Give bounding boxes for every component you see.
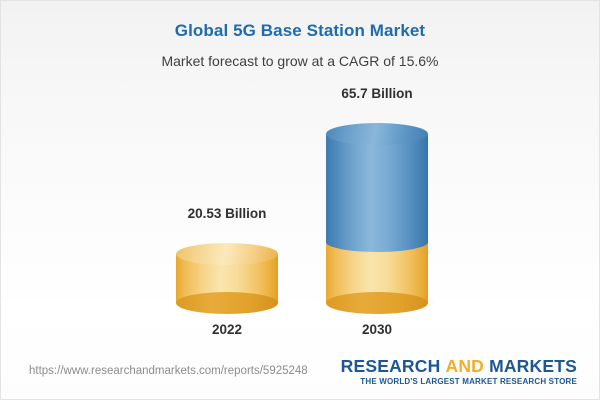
cylinder-base-2022 [176, 292, 278, 314]
chart-footer: https://www.researchandmarkets.com/repor… [1, 349, 599, 399]
brand-wordmark: RESEARCH AND MARKETS [341, 357, 577, 375]
bar-2022[interactable]: 20.53 Billion 2022 [176, 243, 278, 303]
category-label-2022: 2022 [212, 322, 242, 337]
brand-word-and: AND [445, 356, 484, 376]
bar-value-label-2030: 65.7 Billion [341, 86, 412, 101]
brand-word-research: RESEARCH [341, 356, 441, 376]
cylinder-cap-2030 [326, 123, 428, 145]
cylinder-base-2030 [326, 292, 428, 314]
chart-card: Global 5G Base Station Market Market for… [0, 0, 600, 400]
brand-logo[interactable]: RESEARCH AND MARKETS THE WORLD'S LARGEST… [341, 357, 577, 386]
category-label-2030: 2030 [362, 322, 392, 337]
brand-word-markets: MARKETS [489, 356, 577, 376]
source-url[interactable]: https://www.researchandmarkets.com/repor… [29, 365, 308, 377]
brand-tagline: THE WORLD'S LARGEST MARKET RESEARCH STOR… [341, 377, 577, 386]
chart-plot-area: 20.53 Billion 2022 65.7 Billion 2 [1, 1, 600, 351]
cylinder-segment-divider-2030 [326, 232, 428, 252]
bar-value-label-2022: 20.53 Billion [188, 206, 267, 221]
cylinder-cap-2022 [176, 243, 278, 265]
cylinder-body-upper-2030 [326, 134, 428, 243]
bar-2030[interactable]: 65.7 Billion 2030 [326, 123, 428, 303]
